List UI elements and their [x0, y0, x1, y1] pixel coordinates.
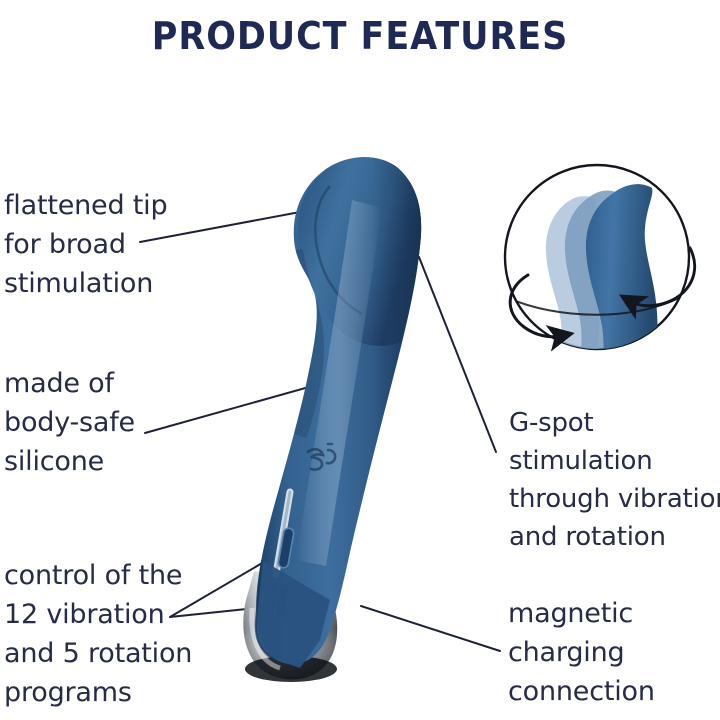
callout-flattened-tip: flattened tip for broad stimulation: [4, 186, 167, 303]
callout-controls: control of the 12 vibration and 5 rotati…: [4, 556, 192, 712]
callout-line: stimulation: [509, 442, 720, 480]
callout-magnetic-charging: magnetic charging connection: [508, 594, 655, 711]
callout-line: 12 vibration: [4, 595, 192, 634]
callout-line: connection: [508, 672, 655, 711]
callout-line: and 5 rotation: [4, 634, 192, 673]
callout-line: through vibration: [509, 480, 720, 518]
infographic-canvas: PRODUCT FEATURES: [0, 0, 720, 720]
callout-line: magnetic: [508, 594, 655, 633]
callout-line: control of the: [4, 556, 192, 595]
callout-line: made of: [4, 364, 135, 403]
callout-g-spot: G-spot stimulation through vibration and…: [509, 404, 720, 556]
callout-line: silicone: [4, 442, 135, 481]
product-body: [252, 150, 426, 690]
rotation-inset: [505, 165, 695, 413]
callout-line: programs: [4, 673, 192, 712]
callout-line: flattened tip: [4, 186, 167, 225]
leader-line-g-spot: [419, 257, 496, 452]
callout-line: G-spot: [509, 404, 720, 442]
callout-line: charging: [508, 633, 655, 672]
callout-line: stimulation: [4, 264, 167, 303]
leader-line-magnetic: [361, 606, 500, 651]
callout-body-safe-silicone: made of body-safe silicone: [4, 364, 135, 481]
callout-line: for broad: [4, 225, 167, 264]
callout-line: body-safe: [4, 403, 135, 442]
callout-line: and rotation: [509, 518, 720, 556]
